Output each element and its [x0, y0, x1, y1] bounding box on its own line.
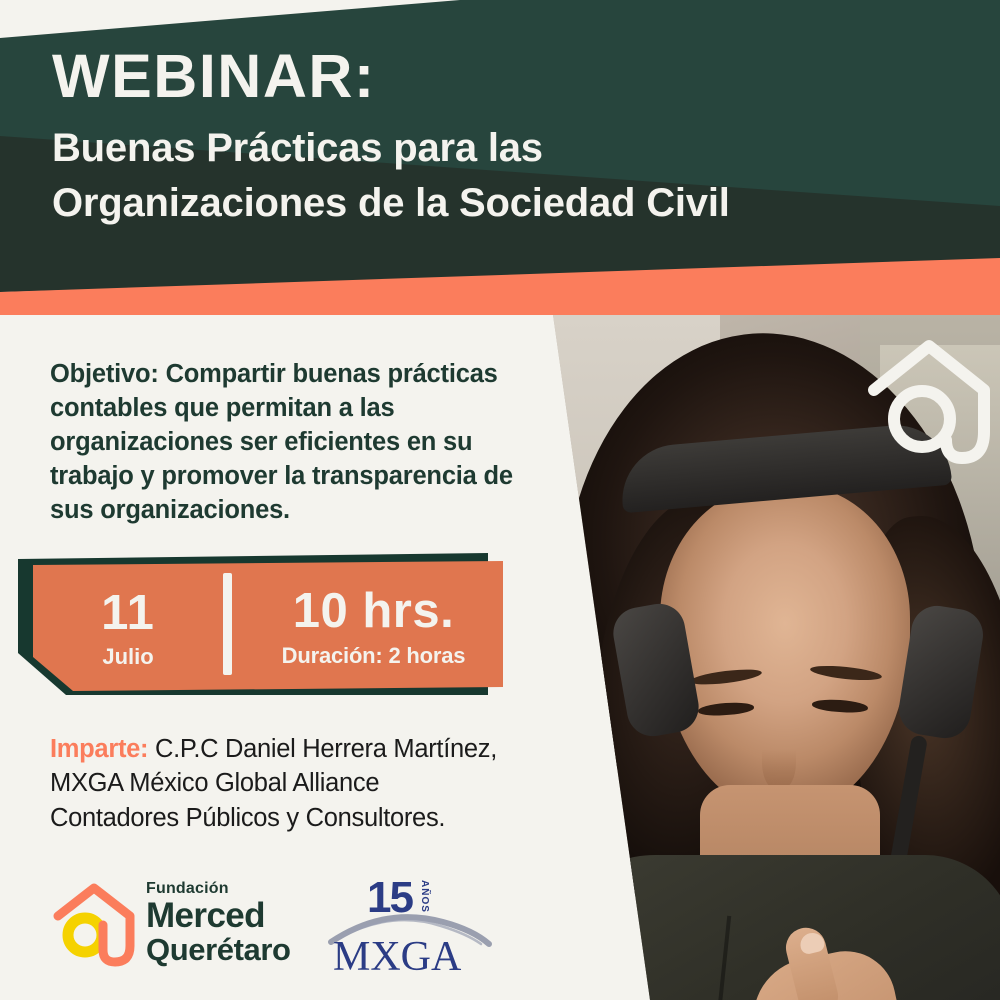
presenter-org: MXGA México Global Alliance — [50, 769, 379, 797]
presenter-name: C.P.C Daniel Herrera Martínez, — [148, 735, 497, 763]
event-day: 11 — [33, 589, 223, 638]
date-time-banner: 11 Julio 10 hrs. Duración: 2 horas — [18, 553, 518, 703]
presenter-credits: Imparte: C.P.C Daniel Herrera Martínez, … — [50, 732, 570, 835]
logo-mxga: 15 AÑOS MXGA — [325, 866, 515, 976]
webinar-poster: WEBINAR: Buenas Prácticas para las Organ… — [0, 0, 1000, 1000]
photo-nose — [762, 723, 796, 789]
banner-content: 11 Julio 10 hrs. Duración: 2 horas — [33, 561, 503, 691]
webinar-title: WEBINAR: — [52, 46, 952, 107]
merced-city: Querétaro — [146, 934, 291, 967]
presenter-role: Contadores Públicos y Consultores. — [50, 804, 445, 832]
logo-fundacion-merced-queretaro: Fundación Merced Querétaro — [52, 876, 302, 972]
merced-fundacion-label: Fundación — [146, 881, 291, 897]
event-time: 10 hrs. — [244, 587, 503, 636]
merced-name: Merced — [146, 898, 291, 934]
house-q-watermark-icon — [866, 336, 992, 468]
mxga-anniversary-word: AÑOS — [419, 880, 432, 913]
imparte-label: Imparte: — [50, 735, 148, 763]
event-duration: Duración: 2 horas — [244, 643, 503, 669]
house-q-icon — [52, 880, 136, 968]
banner-time-group: 10 hrs. Duración: 2 horas — [238, 583, 503, 669]
banner-date-group: 11 Julio — [33, 583, 223, 670]
merced-wordmark: Fundación Merced Querétaro — [146, 881, 291, 966]
mxga-wordmark: MXGA — [333, 934, 462, 976]
webinar-subtitle-line-2: Organizaciones de la Sociedad Civil — [52, 176, 952, 231]
banner-divider — [223, 573, 232, 675]
title-block: WEBINAR: Buenas Prácticas para las Organ… — [52, 46, 952, 231]
event-month: Julio — [33, 644, 223, 670]
webinar-subtitle-line-1: Buenas Prácticas para las — [52, 121, 952, 176]
objective-text: Objetivo: Compartir buenas prácticas con… — [50, 358, 530, 528]
